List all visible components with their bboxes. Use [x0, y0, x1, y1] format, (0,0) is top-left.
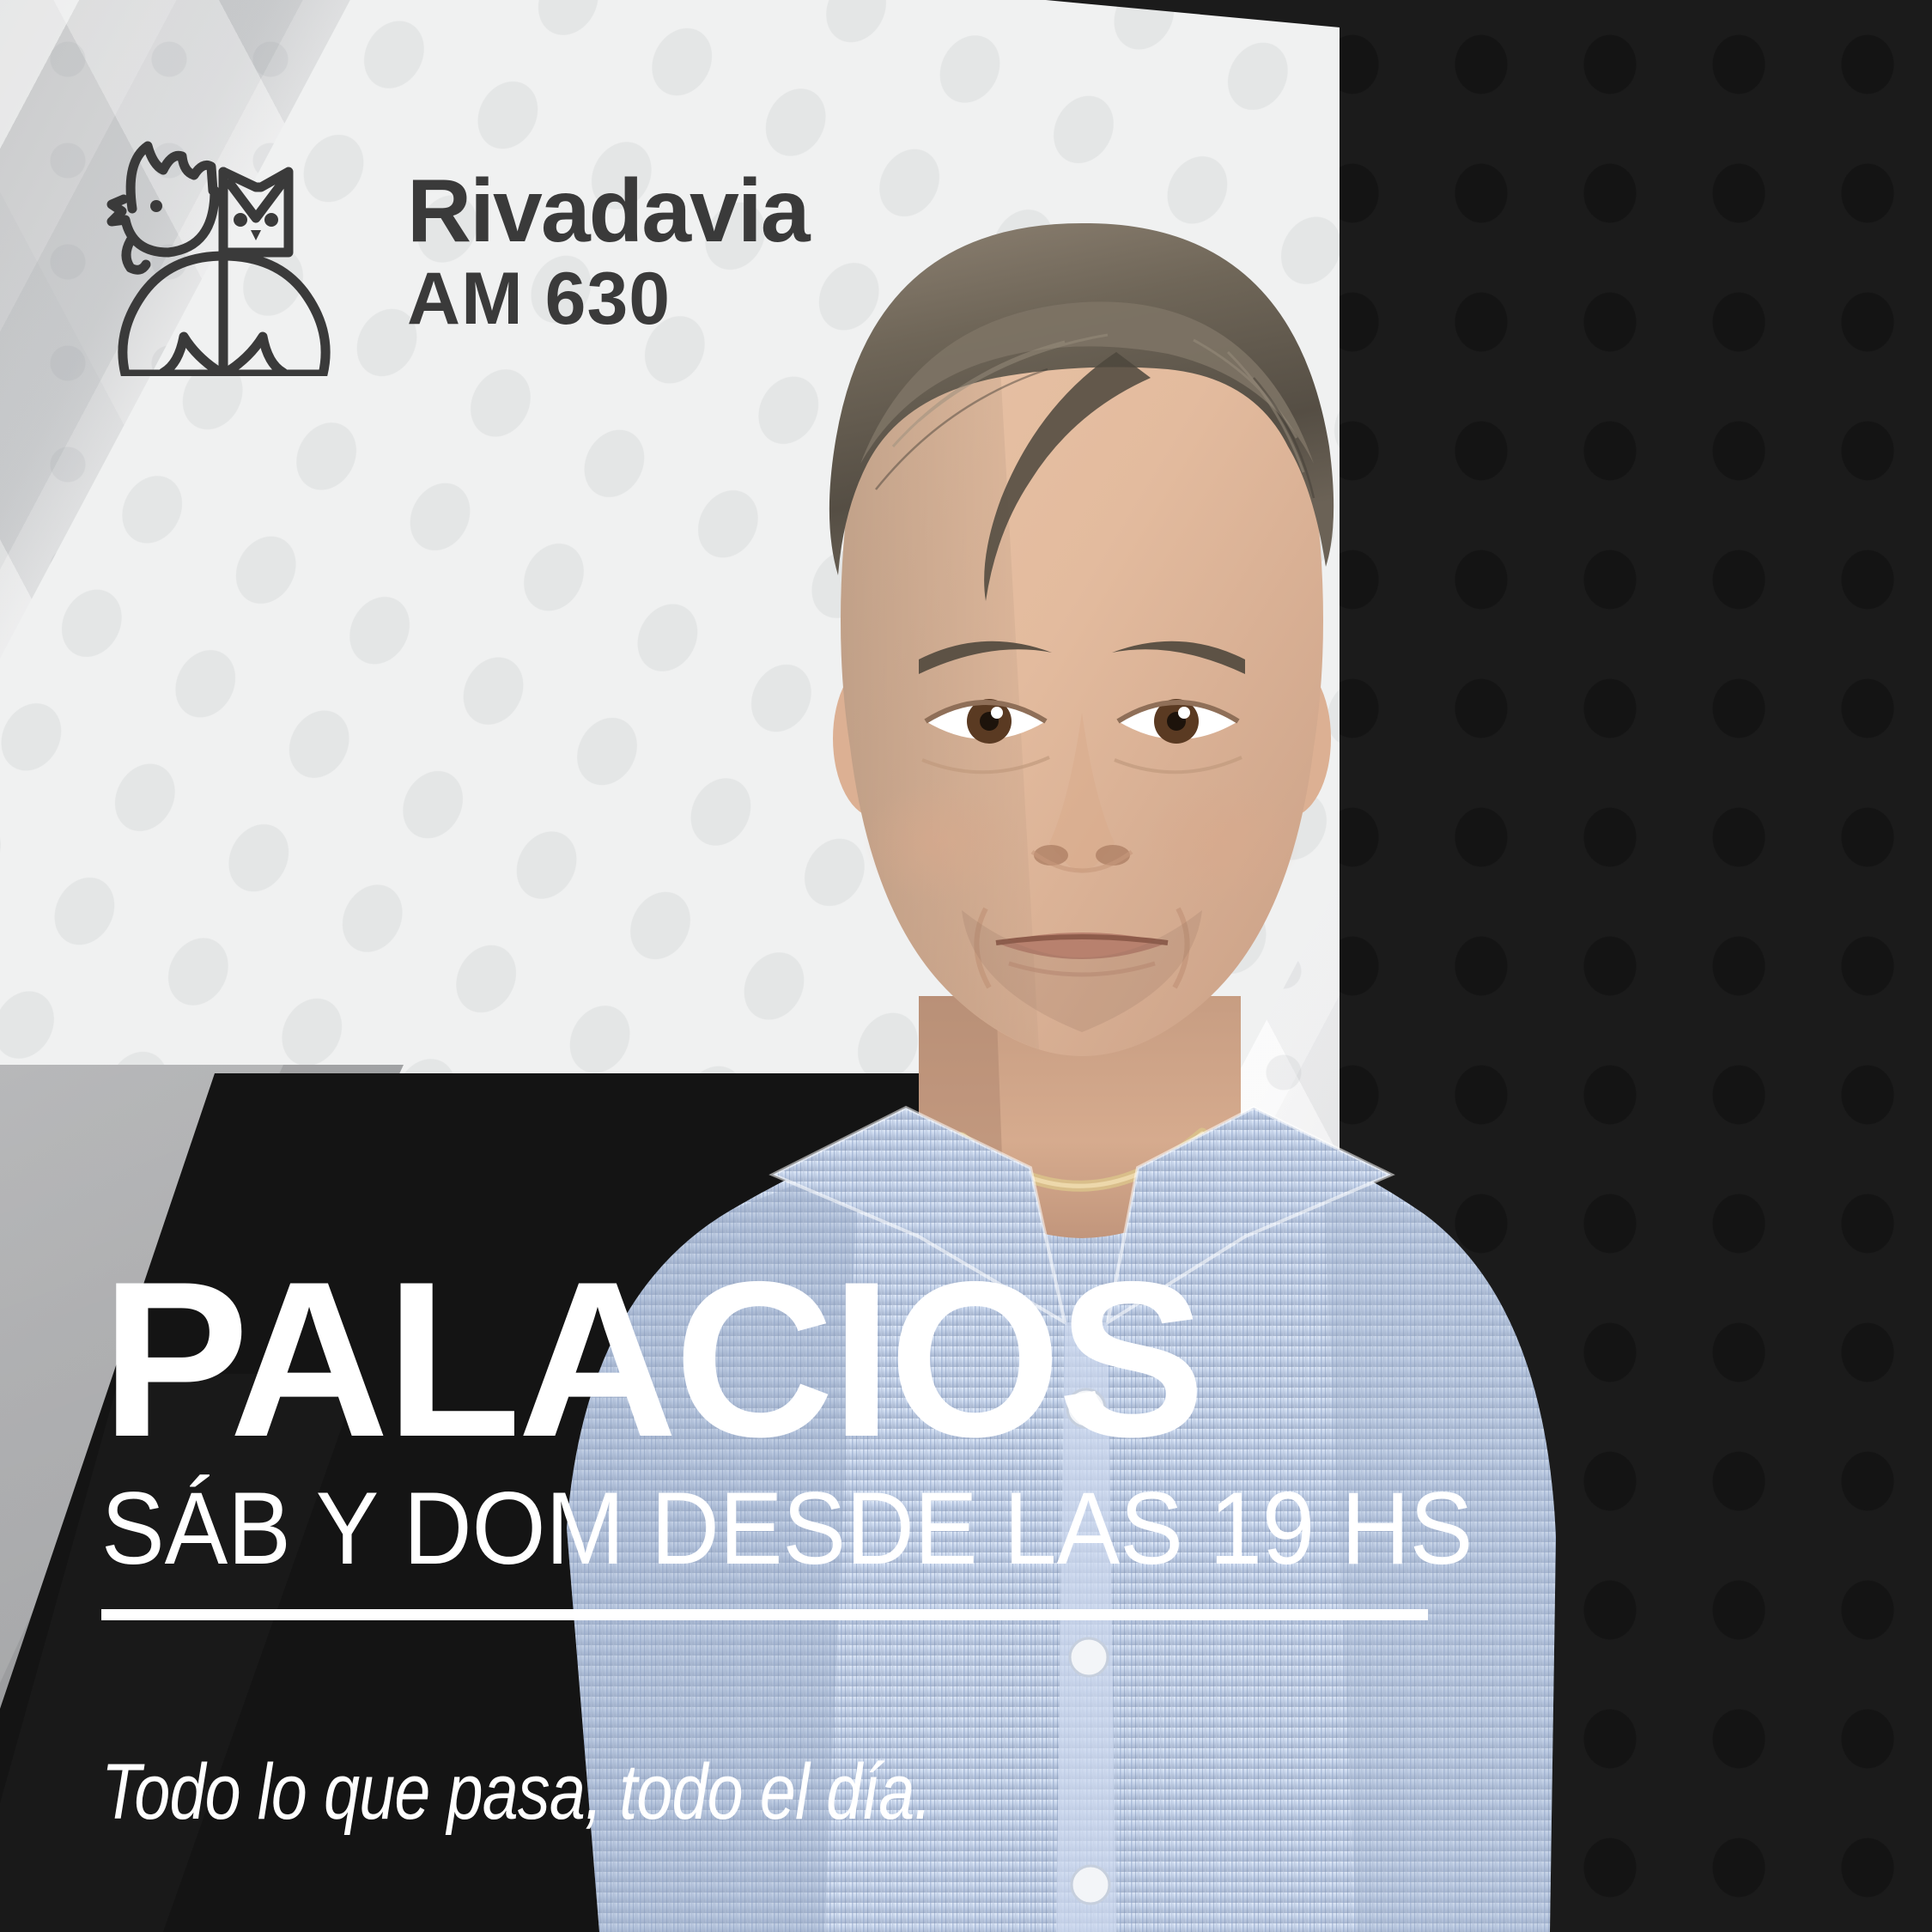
host-portrait [515, 120, 1597, 1932]
show-tagline: Todo lo que pasa, todo el día. [101, 1747, 932, 1838]
station-band: AM 630 [407, 264, 809, 335]
station-logo-text: Rivadavia AM 630 [407, 169, 809, 334]
poster-canvas: Rivadavia AM 630 PALACIOS SÁB Y DOM DESD… [0, 0, 1932, 1932]
show-schedule: SÁB Y DOM DESDE LAS 19 HS [101, 1477, 1397, 1580]
station-name: Rivadavia [407, 169, 809, 255]
station-logo[interactable]: Rivadavia AM 630 [93, 127, 809, 376]
title-divider-rule [101, 1609, 1428, 1620]
show-title-block: PALACIOS SÁB Y DOM DESDE LAS 19 HS [101, 1271, 1510, 1620]
show-title: PALACIOS [101, 1271, 1510, 1448]
rooster-owl-icon [93, 127, 359, 376]
